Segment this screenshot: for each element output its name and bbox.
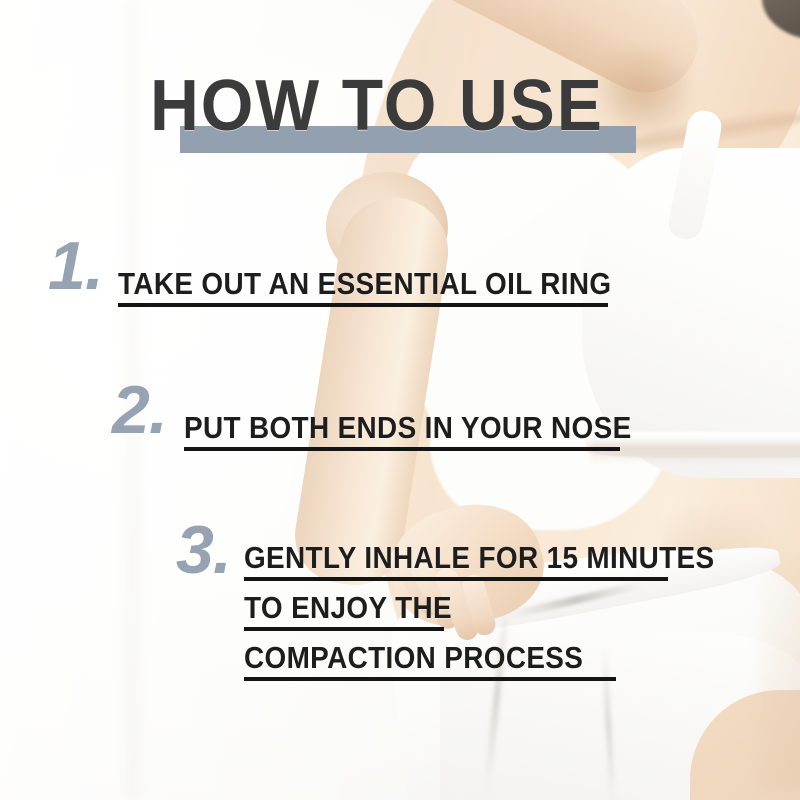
step-1-number: 1.: [48, 232, 103, 300]
step-2-line-1: PUT BOTH ENDS IN YOUR NOSE: [184, 412, 632, 444]
step-3-line-2: TO ENJOY THE: [244, 592, 715, 624]
step-3-line-1: GENTLY INHALE FOR 15 MINUTES: [244, 542, 715, 574]
step-3-text: GENTLY INHALE FOR 15 MINUTES TO ENJOY TH…: [244, 542, 767, 692]
step-2-underline: [184, 447, 620, 451]
text-overlay: HOW TO USE 1. TAKE OUT AN ESSENTIAL OIL …: [0, 0, 800, 800]
how-to-use-poster: HOW TO USE 1. TAKE OUT AN ESSENTIAL OIL …: [0, 0, 800, 800]
step-2-number: 2.: [112, 376, 167, 444]
step-3-underline-1: [244, 577, 668, 581]
step-3-underline-3: [244, 677, 616, 681]
step-1-line-1: TAKE OUT AN ESSENTIAL OIL RING: [118, 268, 611, 300]
step-2-text: PUT BOTH ENDS IN YOUR NOSE: [184, 412, 681, 462]
step-1-text: TAKE OUT AN ESSENTIAL OIL RING: [118, 268, 666, 318]
step-3-line-3: COMPACTION PROCESS: [244, 642, 715, 674]
page-title: HOW TO USE: [150, 70, 604, 142]
title-block: HOW TO USE: [150, 70, 633, 142]
step-3-underline-2: [244, 627, 444, 631]
step-1-underline: [118, 303, 608, 307]
step-3-number: 3.: [176, 516, 231, 584]
